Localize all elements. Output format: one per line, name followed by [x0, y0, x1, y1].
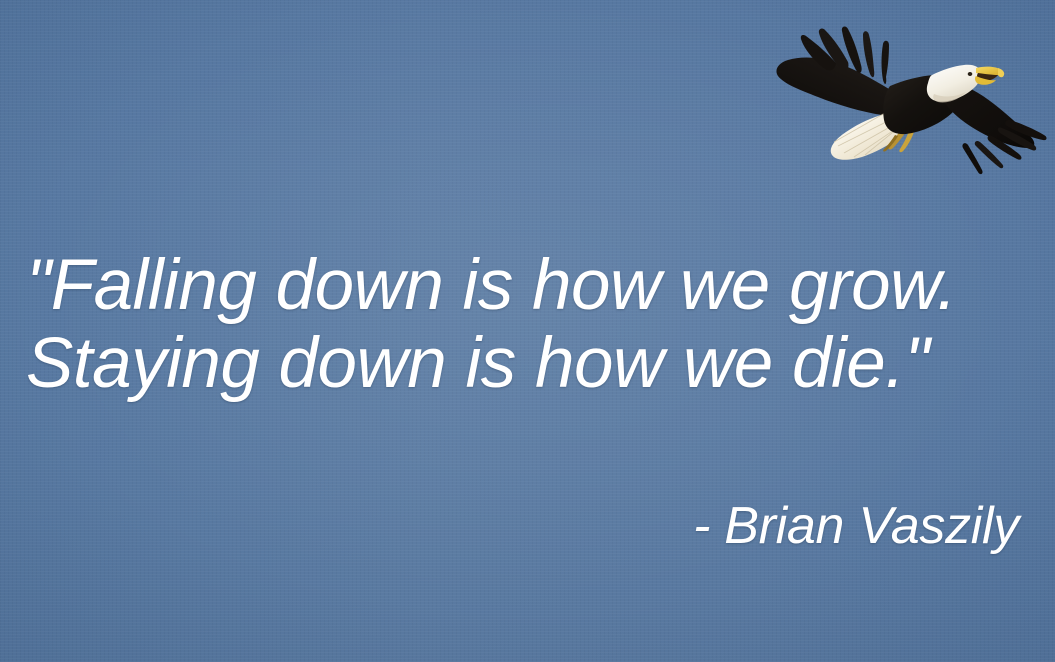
eagle-left-wing	[776, 27, 902, 116]
quote-poster: "Falling down is how we grow. Staying do…	[0, 0, 1055, 662]
eagle-eye	[968, 72, 973, 76]
quote-line-1: "Falling down is how we grow.	[26, 247, 1031, 325]
eagle-beak	[975, 67, 1004, 85]
bald-eagle-illustration	[762, 18, 1052, 176]
quote-line-2: Staying down is how we die."	[26, 325, 1031, 403]
quote-attribution: - Brian Vaszily	[0, 495, 1019, 557]
quote-text: "Falling down is how we grow. Staying do…	[26, 247, 1031, 403]
